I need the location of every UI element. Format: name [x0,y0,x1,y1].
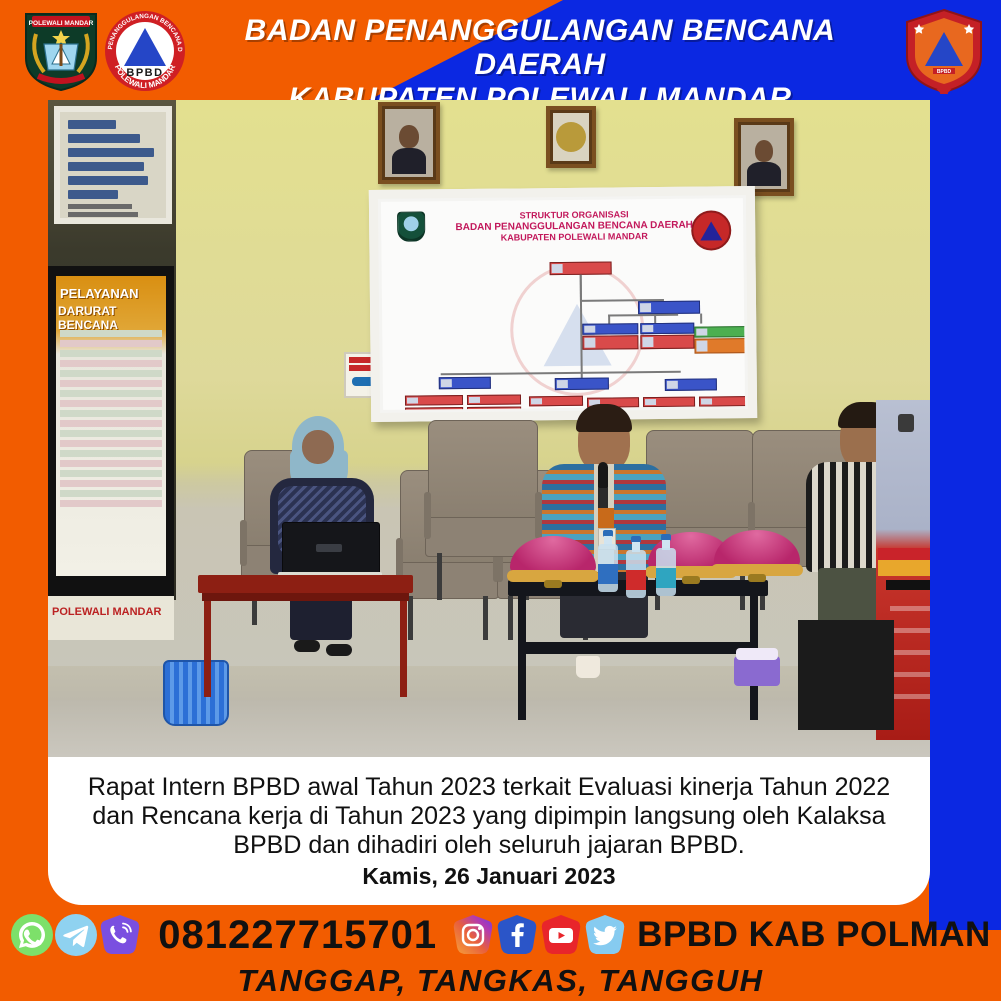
black-coffee-table [508,580,768,720]
poster-canvas: POLEWALI MANDAR BPBD BADAN PENANGGULANGA… [0,0,1001,1001]
polewali-mandar-crest-icon: POLEWALI MANDAR [22,8,100,92]
bpbd-shield-logo-icon: BPBD [903,8,985,94]
svg-text:BPBD: BPBD [126,67,163,79]
board-title: STRUKTUR ORGANISASI BADAN PENANGGULANGAN… [433,208,715,244]
board-crest-icon [397,211,425,241]
org-node [665,378,717,391]
org-node [467,394,521,405]
telegram-icon[interactable] [54,913,98,957]
instagram-icon[interactable] [451,913,495,957]
org-node [699,396,745,407]
social-handle[interactable]: BPBD KAB POLMAN [637,915,991,955]
caption-date: Kamis, 26 Januari 2023 [362,862,615,890]
poster-footer: 081227715701 [0,905,1001,1001]
org-node [638,301,700,315]
poster-header: POLEWALI MANDAR BPBD BADAN PENANGGULANGA… [0,0,1001,96]
wall-portrait-president [378,102,440,184]
left-wall-strip: POLEWALI MANDAR [48,596,174,640]
org-node [550,261,612,275]
svg-text:BPBD: BPBD [937,69,952,75]
left-service-poster: PELAYANAN DARURAT BENCANA [56,276,166,576]
slogan: TANGGAP, TANGKAS, TANGGUH [0,963,1001,999]
org-node [405,395,463,406]
org-node [582,323,638,335]
covered-food-tray [714,530,800,582]
twitter-icon[interactable] [583,913,627,957]
org-node [582,335,638,350]
org-node [694,338,745,354]
poster-title: PELAYANAN [60,286,139,301]
viber-icon[interactable] [98,913,142,957]
covered-food-tray [510,536,596,588]
organization-structure-board: STRUKTUR ORGANISASI BADAN PENANGGULANGAN… [369,186,757,422]
title-line-1: BADAN PENANGGULANGAN BENCANA DAERAH [180,14,900,82]
phone-number[interactable]: 081227715701 [158,913,437,958]
red-side-table [198,575,413,697]
poster-subtitle: DARURAT BENCANA [58,304,166,332]
blue-right-band [929,96,1001,886]
org-node [439,377,491,390]
youtube-icon[interactable] [539,913,583,957]
caption-text: Rapat Intern BPBD awal Tahun 2023 terkai… [48,773,930,860]
wall-emblem-frame [546,106,596,168]
coffee-cup [576,656,600,678]
left-wall-strip-label: POLEWALI MANDAR [52,606,161,618]
caption-card: Rapat Intern BPBD awal Tahun 2023 terkai… [48,757,930,905]
org-node [640,335,694,350]
svg-text:POLEWALI MANDAR: POLEWALI MANDAR [29,20,94,27]
bpbd-round-logo-icon: BPBD BADAN PENANGGULANGAN BENCANA DAERAH… [104,10,186,92]
left-wall-board: PELAYANAN DARURAT BENCANA POLEWALI MANDA… [48,100,176,600]
wall-portrait-vice-president [734,118,794,196]
org-node [555,378,609,391]
water-bottle [626,536,646,598]
meeting-photo: PELAYANAN DARURAT BENCANA POLEWALI MANDA… [48,100,930,760]
whatsapp-icon[interactable] [10,913,54,957]
water-bottle [598,530,618,592]
left-framed-poster [54,106,172,224]
dark-cabinet [798,620,894,730]
org-node [694,326,745,338]
org-node [467,406,521,409]
water-bottle [656,534,676,596]
tissue-box [734,656,780,686]
org-node [640,323,694,335]
facebook-icon[interactable] [495,913,539,957]
org-node [405,407,463,410]
